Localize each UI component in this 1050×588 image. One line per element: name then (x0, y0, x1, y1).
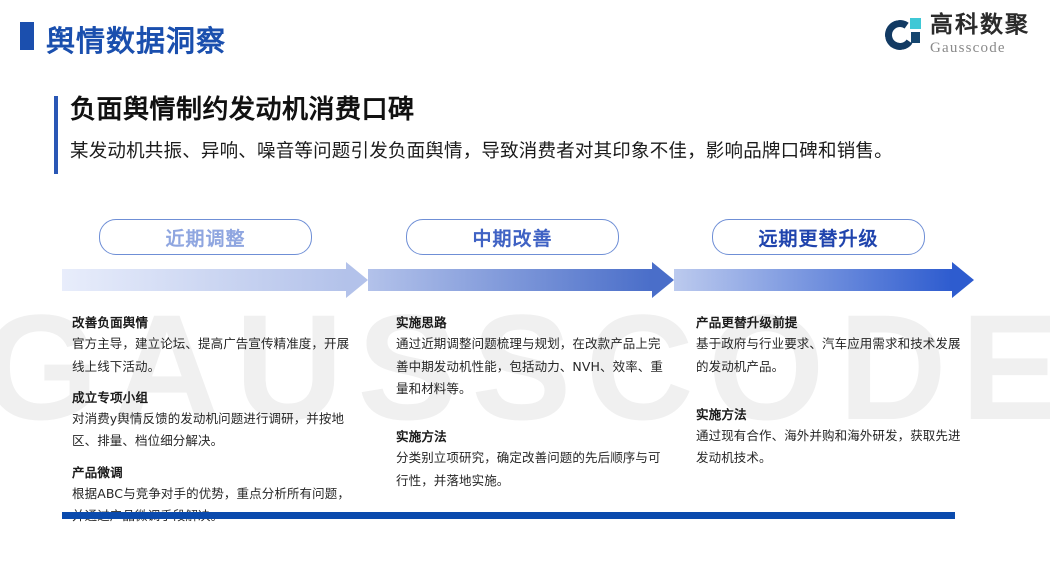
phase-pill-group: 近期调整 中期改善 远期更替升级 (0, 219, 1050, 259)
block-body: 通过近期调整问题梳理与规划，在改款产品上完善中期发动机性能，包括动力、NVH、效… (396, 333, 666, 400)
phase-pill-mid-term[interactable]: 中期改善 (406, 219, 619, 255)
logo-name-cn: 高科数聚 (930, 14, 1030, 37)
block-body: 分类别立项研究，确定改善问题的先后顺序与可行性，并落地实施。 (396, 447, 666, 492)
title-accent-bar (54, 96, 58, 174)
timeline-arrow (62, 262, 974, 298)
arrow-head-icon (652, 262, 674, 298)
logo-name-en: Gausscode (930, 41, 1030, 56)
column-long-term: 产品更替升级前提 基于政府与行业要求、汽车应用需求和技术发展的发动机产品。 实施… (696, 312, 968, 479)
arrow-segment-1 (62, 262, 368, 298)
block-heading: 实施方法 (696, 404, 968, 425)
slide-root: GAUSSCODE 舆情数据洞察 高科数聚 Gausscode 负面舆情制约发动… (0, 0, 1050, 588)
content-block: 实施思路 通过近期调整问题梳理与规划，在改款产品上完善中期发动机性能，包括动力、… (396, 312, 666, 400)
block-heading: 实施方法 (396, 426, 666, 447)
arrow-bar (368, 269, 652, 291)
block-heading: 产品更替升级前提 (696, 312, 968, 333)
gausscode-logo-icon (885, 17, 921, 53)
block-heading: 改善负面舆情 (72, 312, 357, 333)
content-block: 实施方法 通过现有合作、海外并购和海外研发，获取先进发动机技术。 (696, 404, 968, 470)
slide-header: 舆情数据洞察 高科数聚 Gausscode (0, 0, 1050, 72)
logo-stem-shape (911, 32, 920, 43)
logo-text-group: 高科数聚 Gausscode (930, 14, 1030, 56)
section-heading: 负面舆情制约发动机消费口碑 (70, 94, 1004, 127)
phase-pill-near-term[interactable]: 近期调整 (99, 219, 312, 255)
arrow-head-icon (346, 262, 368, 298)
block-body: 官方主导，建立论坛、提高广告宣传精准度，开展线上线下活动。 (72, 333, 357, 378)
title-block: 负面舆情制约发动机消费口碑 某发动机共振、异响、噪音等问题引发负面舆情，导致消费… (54, 94, 1004, 164)
arrow-segment-2 (368, 262, 674, 298)
block-body: 通过现有合作、海外并购和海外研发，获取先进发动机技术。 (696, 425, 968, 470)
section-subheading: 某发动机共振、异响、噪音等问题引发负面舆情，导致消费者对其印象不佳，影响品牌口碑… (70, 140, 1004, 164)
arrow-bar (674, 269, 952, 291)
arrow-segment-3 (674, 262, 974, 298)
content-block: 成立专项小组 对消费y舆情反馈的发动机问题进行调研，并按地区、排量、档位细分解决… (72, 387, 357, 453)
arrow-head-icon (952, 262, 974, 298)
content-block: 实施方法 分类别立项研究，确定改善问题的先后顺序与可行性，并落地实施。 (396, 426, 666, 492)
block-body: 对消费y舆情反馈的发动机问题进行调研，并按地区、排量、档位细分解决。 (72, 408, 357, 453)
brand-logo: 高科数聚 Gausscode (885, 14, 1030, 56)
page-title: 舆情数据洞察 (46, 18, 226, 60)
block-heading: 实施思路 (396, 312, 666, 333)
column-mid-term: 实施思路 通过近期调整问题梳理与规划，在改款产品上完善中期发动机性能，包括动力、… (396, 312, 666, 501)
arrow-bar (62, 269, 346, 291)
column-near-term: 改善负面舆情 官方主导，建立论坛、提高广告宣传精准度，开展线上线下活动。 成立专… (72, 312, 357, 536)
block-heading: 产品微调 (72, 462, 357, 483)
footer-accent-bar (62, 512, 955, 519)
phase-pill-long-term[interactable]: 远期更替升级 (712, 219, 925, 255)
logo-accent-square-icon (910, 18, 921, 29)
content-block: 产品更替升级前提 基于政府与行业要求、汽车应用需求和技术发展的发动机产品。 (696, 312, 968, 378)
block-body: 根据ABC与竞争对手的优势，重点分析所有问题，并通过产品微调手段解决。 (72, 483, 357, 528)
content-block: 改善负面舆情 官方主导，建立论坛、提高广告宣传精准度，开展线上线下活动。 (72, 312, 357, 378)
block-body: 基于政府与行业要求、汽车应用需求和技术发展的发动机产品。 (696, 333, 968, 378)
block-heading: 成立专项小组 (72, 387, 357, 408)
header-marker-icon (20, 22, 34, 50)
